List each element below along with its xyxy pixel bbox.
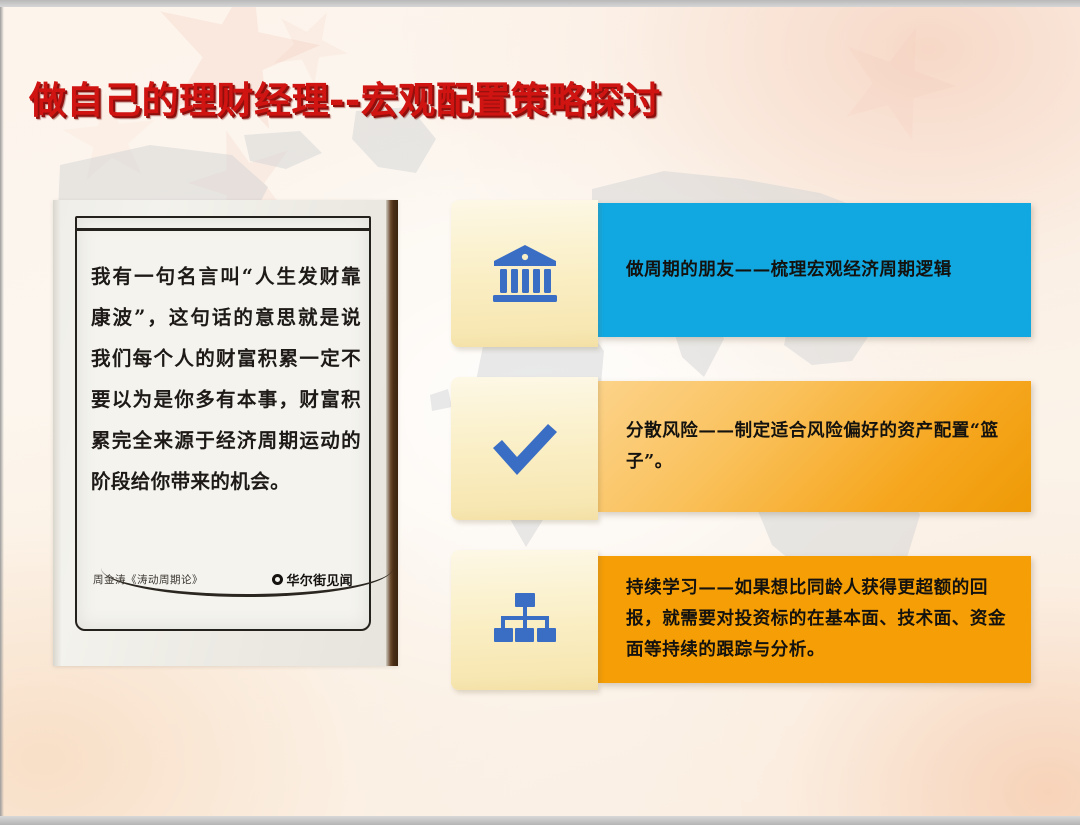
article-quote-text: 我有一句名言叫“人生发财靠康波”，这句话的意思就是说我们每个人的财富积累一定不要… (91, 256, 361, 502)
org-chart-icon (493, 591, 557, 649)
icon-panel-3 (451, 550, 598, 690)
slide-frame-bottom (0, 816, 1080, 825)
article-frame: 我有一句名言叫“人生发财靠康波”，这句话的意思就是说我们每个人的财富积累一定不要… (75, 216, 371, 631)
key-point-text-3: 持续学习——如果想比同龄人获得更超额的回报，就需要对投资标的在基本面、技术面、资… (626, 573, 1009, 666)
slide-title: 做自己的理财经理--宏观配置策略探讨 (29, 70, 661, 124)
key-point-text-1: 做周期的朋友——梳理宏观经济周期逻辑 (626, 255, 952, 286)
article-source: 华尔街见闻 (272, 570, 353, 589)
slide-frame-top (0, 0, 1080, 7)
key-point-row-2: 分散风险——制定适合风险偏好的资产配置“篮子”。 (451, 377, 1031, 520)
check-icon (486, 418, 564, 480)
key-point-text-2: 分散风险——制定适合风险偏好的资产配置“篮子”。 (626, 416, 1009, 478)
key-point-text-panel-3: 持续学习——如果想比同龄人获得更超额的回报，就需要对投资标的在基本面、技术面、资… (598, 556, 1031, 683)
key-point-text-panel-1: 做周期的朋友——梳理宏观经济周期逻辑 (598, 203, 1031, 337)
icon-panel-1 (451, 200, 598, 347)
slide-frame-left (0, 0, 4, 825)
key-points-list: 做周期的朋友——梳理宏观经济周期逻辑 分散风险——制定适合风险偏好的资产配置“篮… (451, 200, 1031, 690)
article-source-label: 华尔街见闻 (286, 570, 353, 589)
photo-page-edge-right (386, 200, 398, 666)
presentation-slide: 做自己的理财经理--宏观配置策略探讨 我有一句名言叫“人生发财靠康波”，这句话的… (0, 0, 1080, 825)
key-point-row-3: 持续学习——如果想比同龄人获得更超额的回报，就需要对投资标的在基本面、技术面、资… (451, 550, 1031, 690)
wallstreetcn-logo-icon (272, 574, 283, 585)
icon-panel-2 (451, 377, 598, 520)
key-point-row-1: 做周期的朋友——梳理宏观经济周期逻辑 (451, 200, 1031, 347)
article-credit: 周金涛《涛动周期论》 (93, 572, 203, 587)
bank-icon (492, 244, 558, 304)
photo-page-edge-left (53, 200, 61, 666)
key-point-text-panel-2: 分散风险——制定适合风险偏好的资产配置“篮子”。 (598, 381, 1031, 512)
newspaper-clipping-photo: 我有一句名言叫“人生发财靠康波”，这句话的意思就是说我们每个人的财富积累一定不要… (53, 200, 398, 666)
